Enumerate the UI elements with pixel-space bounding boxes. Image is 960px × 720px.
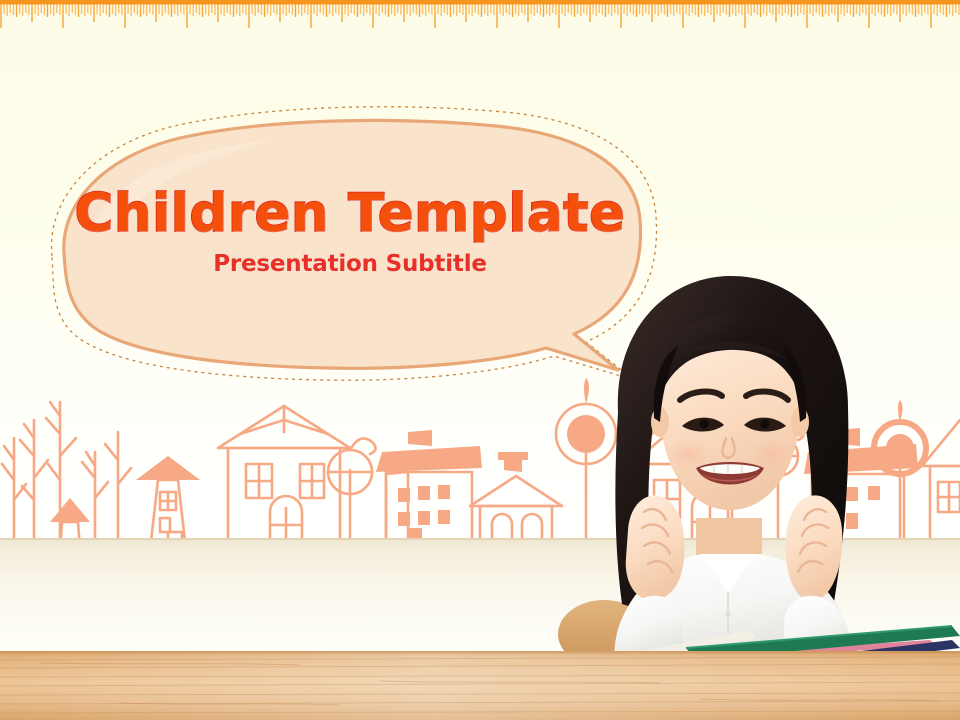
slide-canvas: Children Template Presentation Subtitle bbox=[0, 0, 960, 720]
page-subtitle[interactable]: Presentation Subtitle bbox=[60, 252, 640, 277]
page-title[interactable]: Children Template bbox=[60, 186, 640, 242]
title-block: Children Template Presentation Subtitle bbox=[60, 186, 640, 277]
wooden-desk bbox=[0, 651, 960, 720]
ruler-strip bbox=[0, 0, 960, 30]
girl-photo bbox=[556, 262, 916, 662]
